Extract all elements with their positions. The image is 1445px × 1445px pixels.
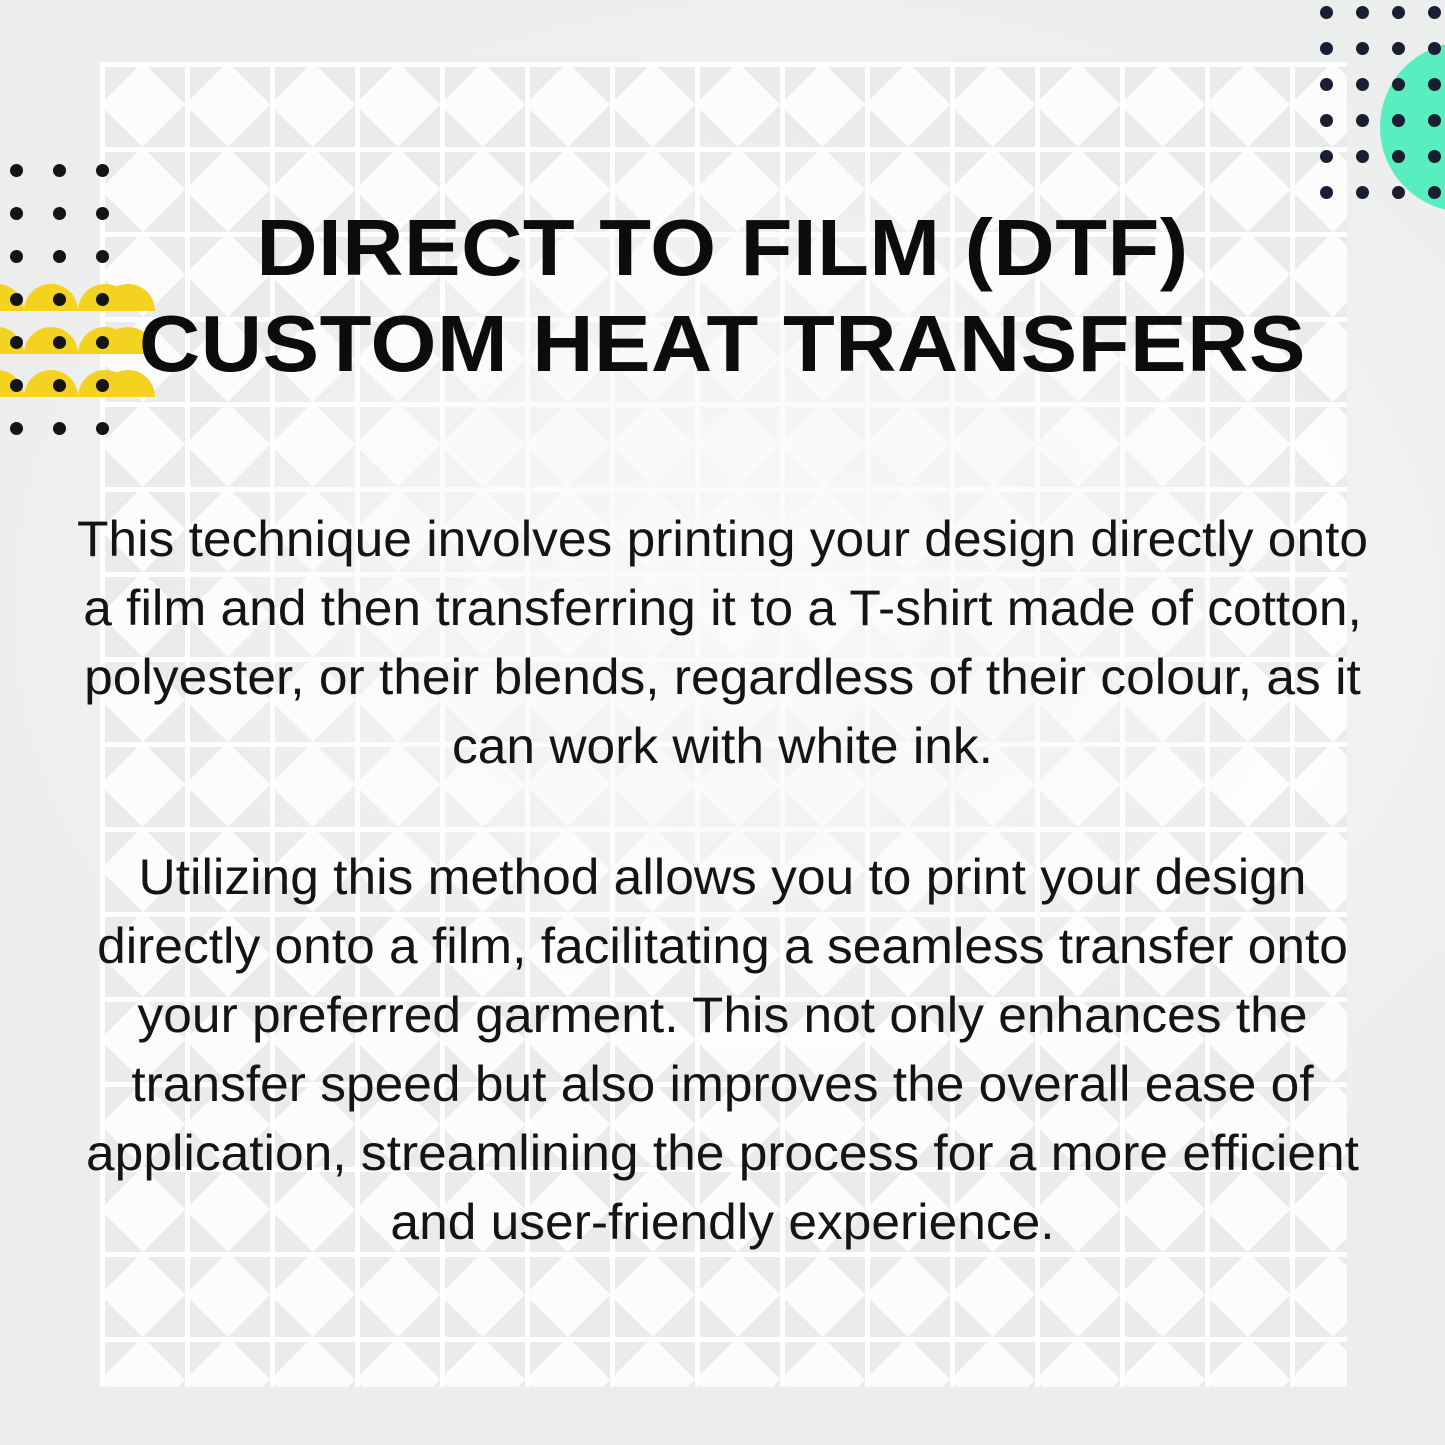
poster-content: DIRECT TO FILM (DTF) CUSTOM HEAT TRANSFE…: [0, 0, 1445, 1445]
paragraph-1: This technique involves printing your de…: [71, 505, 1374, 781]
paragraph-2: Utilizing this method allows you to prin…: [71, 843, 1374, 1257]
poster-canvas: DIRECT TO FILM (DTF) CUSTOM HEAT TRANSFE…: [0, 0, 1445, 1445]
page-title: DIRECT TO FILM (DTF) CUSTOM HEAT TRANSFE…: [0, 200, 1445, 392]
